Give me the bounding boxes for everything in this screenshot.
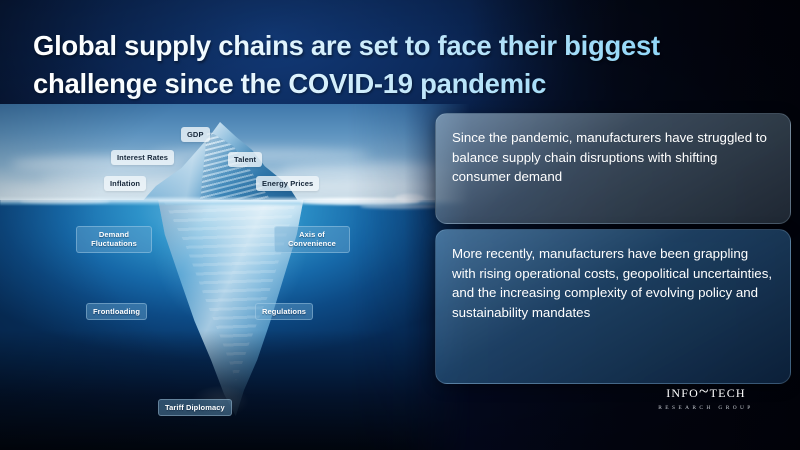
iceberg-label-regulations: Regulations	[255, 303, 313, 320]
iceberg-label-interest-rates: Interest Rates	[111, 150, 174, 165]
iceberg-label-energy-prices: Energy Prices	[256, 176, 319, 191]
logo-tagline: RESEARCH GROUP	[640, 405, 772, 411]
iceberg-label-talent: Talent	[228, 152, 262, 167]
iceberg-label-demand-fluctuations: Demand Fluctuations	[76, 226, 152, 253]
callout-box-recent-challenges: More recently, manufacturers have been g…	[435, 229, 791, 384]
logo-wordmark: INFO~TECH	[640, 383, 772, 401]
info-tech-logo: INFO~TECH RESEARCH GROUP	[640, 383, 772, 411]
iceberg-label-frontloading: Frontloading	[86, 303, 147, 320]
iceberg-label-tariff-diplomacy: Tariff Diplomacy	[158, 399, 232, 416]
slide-canvas: Global supply chains are set to face the…	[0, 0, 800, 450]
iceberg-label-inflation: Inflation	[104, 176, 146, 191]
iceberg-label-gdp: GDP	[181, 127, 210, 142]
page-title: Global supply chains are set to face the…	[33, 27, 673, 103]
callout-box-pandemic-impact: Since the pandemic, manufacturers have s…	[435, 113, 791, 224]
iceberg-label-axis-of-convenience: Axis of Convenience	[274, 226, 350, 253]
